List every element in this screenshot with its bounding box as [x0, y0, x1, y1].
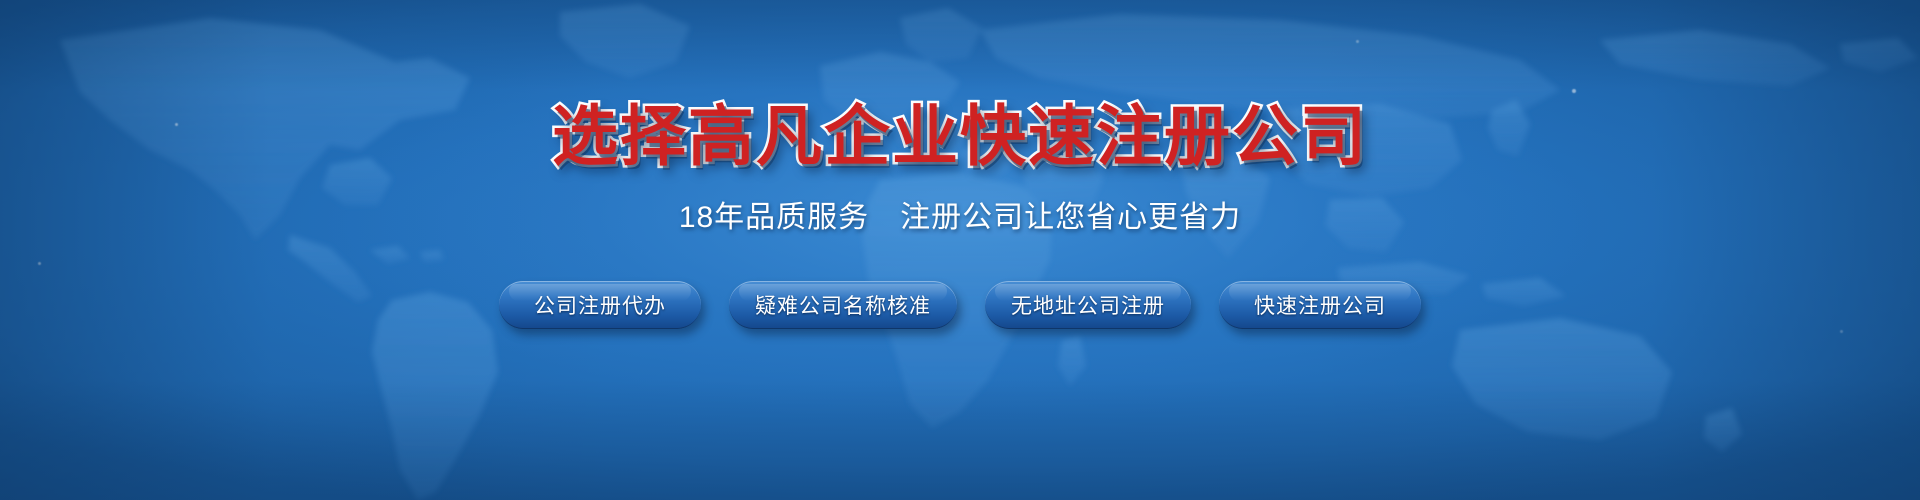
- service-button-no-address-registration[interactable]: 无地址公司注册: [985, 281, 1191, 329]
- banner-subheadline: 18年品质服务 注册公司让您省心更省力: [679, 203, 1241, 233]
- banner-content: 选择高凡企业快速注册公司 18年品质服务 注册公司让您省心更省力 公司注册代办 …: [0, 0, 1920, 500]
- service-button-company-registration-agency[interactable]: 公司注册代办: [499, 281, 701, 329]
- service-button-label: 快速注册公司: [1254, 290, 1386, 320]
- service-button-row: 公司注册代办 疑难公司名称核准 无地址公司注册 快速注册公司: [499, 281, 1421, 329]
- service-button-label: 无地址公司注册: [1011, 290, 1165, 320]
- hero-banner: 选择高凡企业快速注册公司 18年品质服务 注册公司让您省心更省力 公司注册代办 …: [0, 0, 1920, 500]
- service-button-difficult-name-approval[interactable]: 疑难公司名称核准: [729, 281, 957, 329]
- banner-headline: 选择高凡企业快速注册公司: [552, 103, 1368, 169]
- service-button-label: 疑难公司名称核准: [755, 290, 931, 320]
- service-button-label: 公司注册代办: [534, 290, 666, 320]
- service-button-fast-registration[interactable]: 快速注册公司: [1219, 281, 1421, 329]
